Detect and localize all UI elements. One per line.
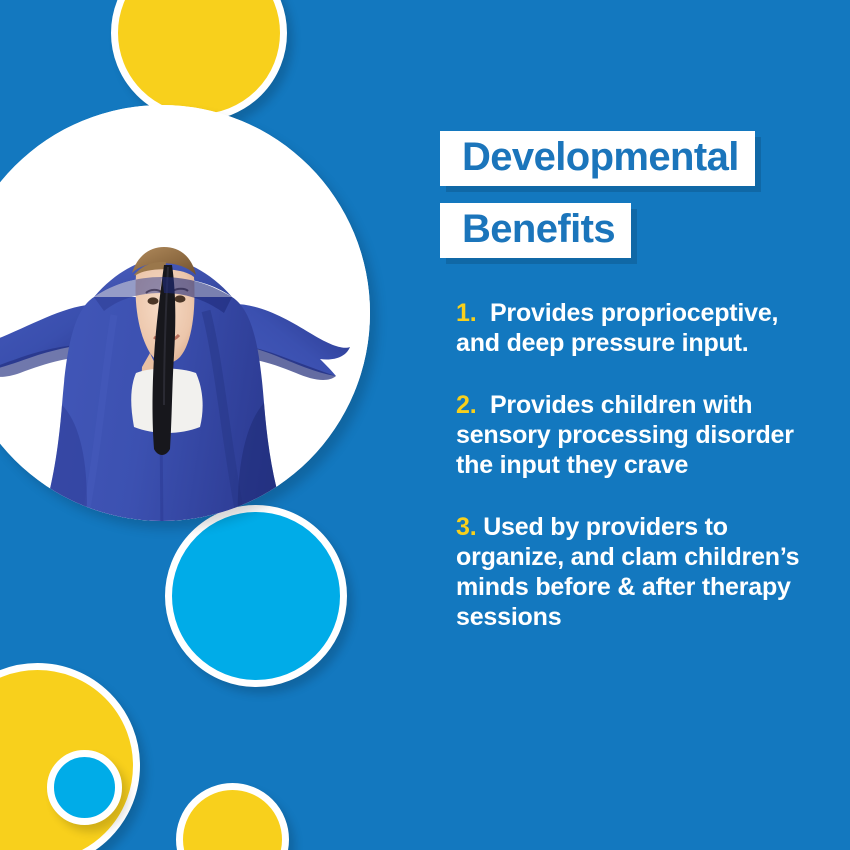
decorative-circle-bottom-yellow [176, 783, 289, 850]
decorative-circle-small-cyan [47, 750, 122, 825]
benefit-line: 2. Provides children with sensory proces… [456, 390, 806, 480]
benefit-line: 3. Used by providers to organize, and cl… [456, 512, 806, 632]
benefit-line: 1. Provides proprioceptive, and deep pre… [456, 298, 806, 358]
benefit-number: 1. [456, 299, 476, 327]
title-line-1-box: Developmental [440, 131, 755, 186]
poster-canvas: Developmental Benefits 1. Provides propr… [0, 0, 850, 850]
title-line-1-text: Developmental [462, 135, 739, 179]
decorative-circle-top-yellow [111, 0, 287, 121]
page-title: Developmental Benefits [440, 131, 755, 275]
list-item: 1. Provides proprioceptive, and deep pre… [456, 298, 806, 358]
benefits-list: 1. Provides proprioceptive, and deep pre… [456, 298, 806, 632]
decorative-circle-mid-cyan [165, 505, 347, 687]
list-item: 3. Used by providers to organize, and cl… [456, 512, 806, 632]
benefit-body: Provides children with sensory processin… [456, 391, 794, 479]
benefit-number: 2. [456, 391, 476, 419]
list-item: 2. Provides children with sensory proces… [456, 390, 806, 480]
benefit-number: 3. [456, 513, 476, 541]
title-line-2-box: Benefits [440, 203, 631, 258]
benefit-body: Provides proprioceptive, and deep pressu… [456, 299, 778, 357]
product-photo-circle [0, 105, 370, 521]
benefit-body: Used by providers to organize, and clam … [456, 513, 799, 631]
child-in-blue-sensory-body-sock-photo [0, 105, 370, 521]
title-line-2-text: Benefits [462, 207, 615, 251]
